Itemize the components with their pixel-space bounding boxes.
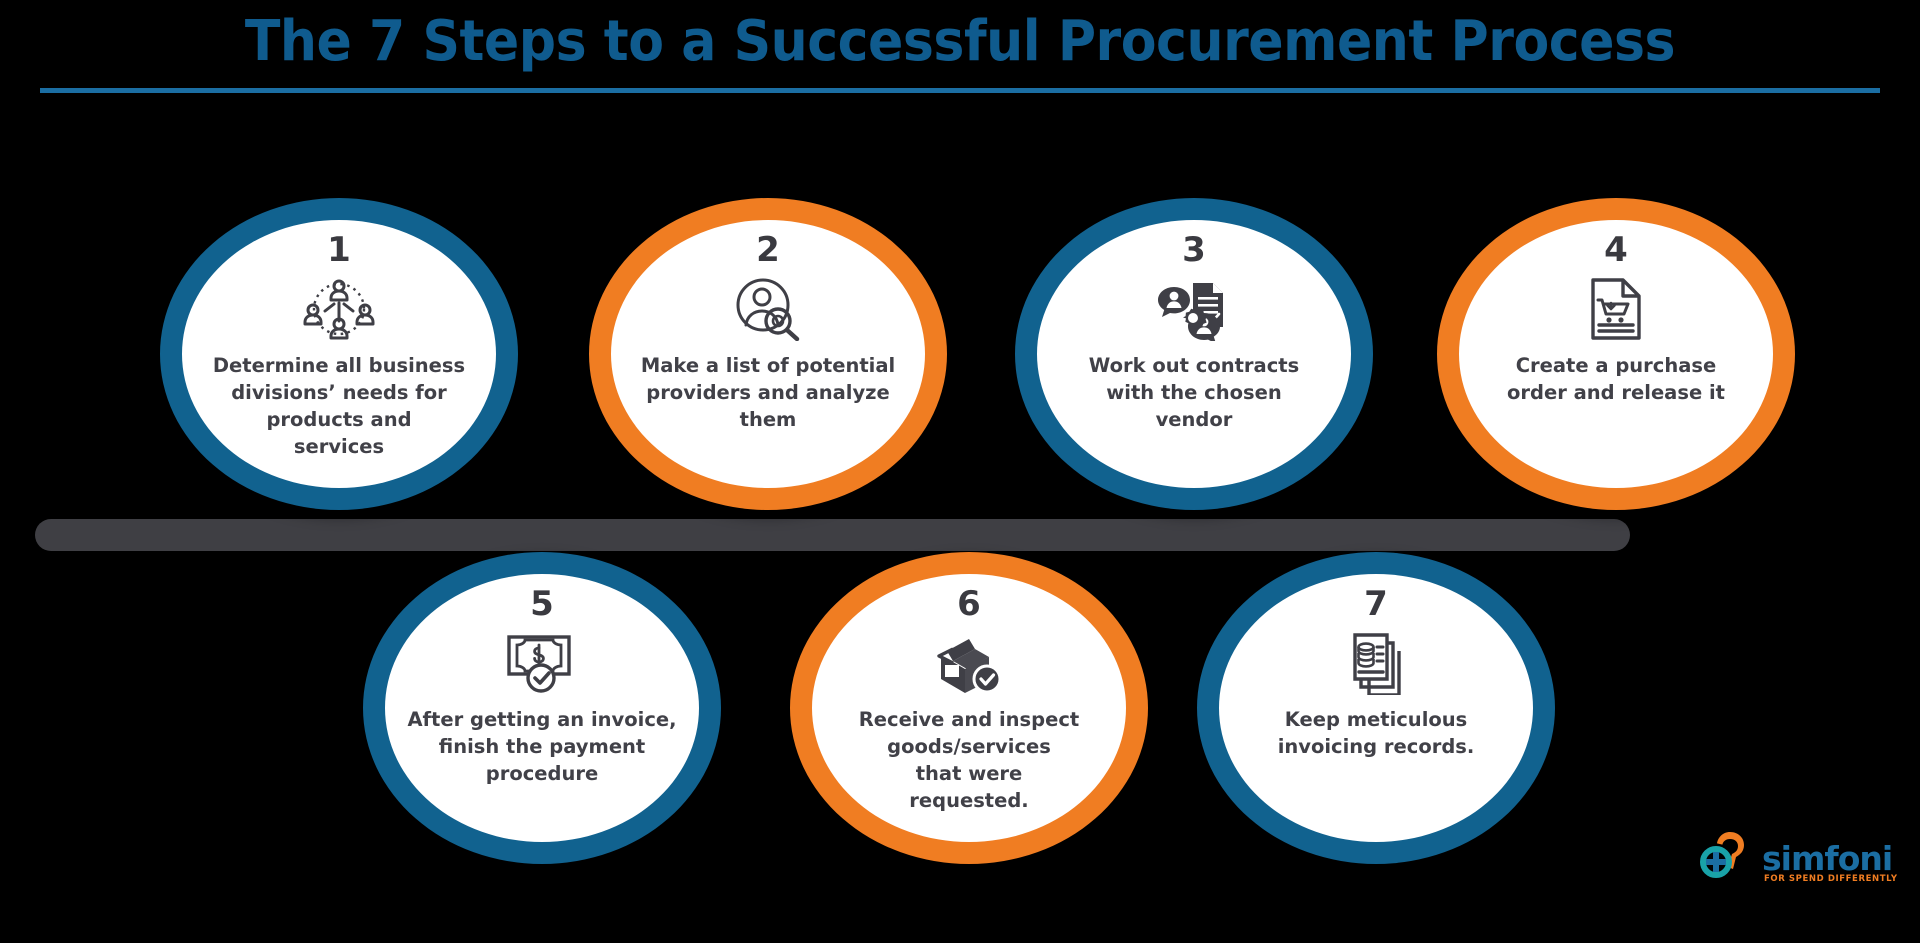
step-description-4: Create a purchase order and release it [1506, 352, 1726, 406]
step-number-7: 7 [1364, 586, 1388, 622]
contract-negotiation-icon [1157, 276, 1231, 342]
step-circle-5[interactable]: 5 After getting an invoice, finish the p… [363, 552, 721, 864]
step-circle-4[interactable]: 4 Create a purchase order and release it [1437, 198, 1795, 510]
step-content-3: 3 Work o [1037, 220, 1351, 488]
invoice-records-icon [1345, 630, 1407, 696]
step-description-5: After getting an invoice, finish the pay… [403, 706, 681, 787]
title-underline-rule [40, 88, 1880, 93]
step-description-7: Keep meticulous invoicing records. [1271, 706, 1481, 760]
step-number-6: 6 [957, 586, 981, 622]
step-description-2: Make a list of potential providers and a… [629, 352, 907, 433]
infographic-canvas: The 7 Steps to a Successful Procurement … [0, 0, 1920, 943]
purchase-order-document-icon [1588, 276, 1644, 342]
person-search-icon [733, 276, 803, 342]
step-description-1: Determine all business divisions’ needs … [209, 352, 469, 460]
page-title-wrap: The 7 Steps to a Successful Procurement … [0, 8, 1920, 76]
page-title: The 7 Steps to a Successful Procurement … [245, 8, 1675, 76]
step-number-1: 1 [327, 232, 351, 268]
brand-logo: simfoni FOR SPEND DIFFERENTLY [1700, 824, 1900, 896]
horizontal-timeline-bar [35, 519, 1630, 551]
step-circle-6[interactable]: 6 Receive and inspect goods/services tha… [790, 552, 1148, 864]
banknote-check-icon [505, 630, 579, 696]
step-content-5: 5 After getting an invoice, finish the p… [385, 574, 699, 842]
logo-tagline: FOR SPEND DIFFERENTLY [1764, 874, 1898, 884]
step-description-6: Receive and inspect goods/services that … [854, 706, 1084, 814]
people-network-icon [303, 276, 375, 342]
step-number-2: 2 [756, 232, 780, 268]
step-number-3: 3 [1182, 232, 1206, 268]
simfoni-logo-mark-icon [1700, 828, 1760, 889]
step-content-7: 7 Keep meticulous invoicing records. [1219, 574, 1533, 842]
logo-wordmark: simfoni [1762, 842, 1892, 875]
step-content-4: 4 Create a purchase order and release it [1459, 220, 1773, 488]
step-circle-7[interactable]: 7 Keep meticulous invoicing records. [1197, 552, 1555, 864]
package-check-icon [933, 630, 1005, 696]
step-number-4: 4 [1604, 232, 1628, 268]
step-description-3: Work out contracts with the chosen vendo… [1074, 352, 1314, 433]
step-circle-1[interactable]: 1 Determine all business divis [160, 198, 518, 510]
step-circle-3[interactable]: 3 Work o [1015, 198, 1373, 510]
step-number-5: 5 [530, 586, 554, 622]
step-content-6: 6 Receive and inspect goods/services tha… [812, 574, 1126, 842]
step-content-1: 1 Determine all business divis [182, 220, 496, 488]
step-circle-2[interactable]: 2 Make a list of potential providers and… [589, 198, 947, 510]
step-content-2: 2 Make a list of potential providers and… [611, 220, 925, 488]
